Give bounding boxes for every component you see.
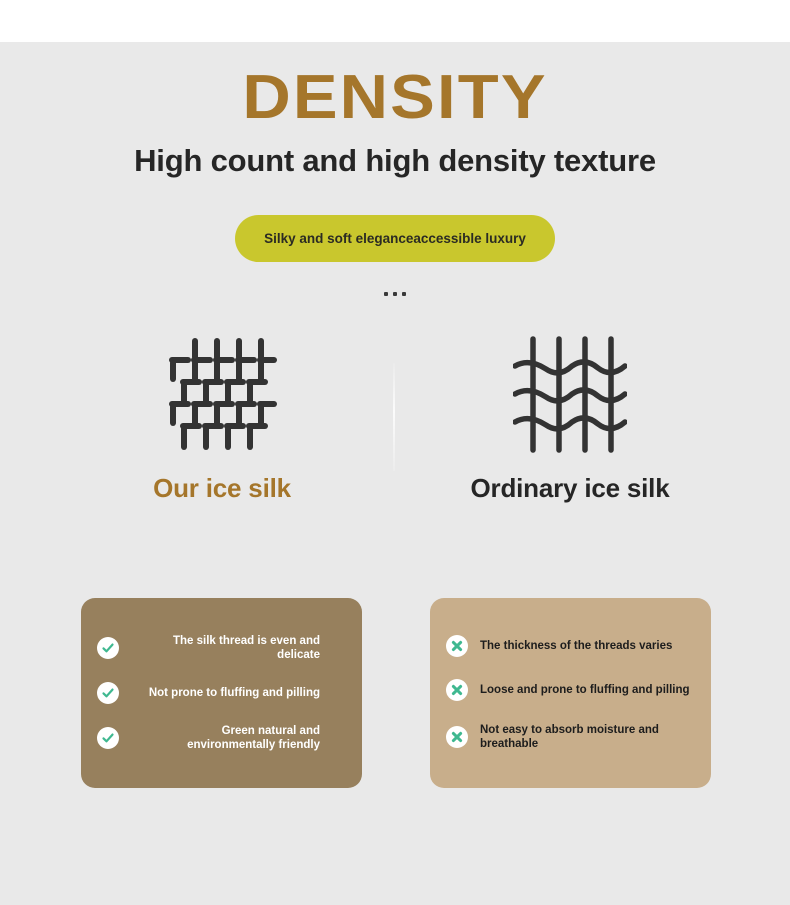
list-item-label: The thickness of the threads varies [480,639,695,653]
page-title: DENSITY [0,62,790,134]
cross-icon [446,679,468,701]
cross-icon [446,726,468,748]
tagline-badge-label: Silky and soft eleganceaccessible luxury [264,231,526,247]
check-icon [97,727,119,749]
list-item-label: Not easy to absorb moisture and breathab… [480,723,695,751]
list-item: Not prone to fluffing and pilling [97,682,346,704]
dot-icon [384,292,388,296]
feature-card-our-ice-silk: The silk thread is even and delicate Not… [81,598,362,788]
feature-card-ordinary-ice-silk: The thickness of the threads varies Loos… [430,598,711,788]
list-item-label: Green natural and environmentally friend… [131,724,346,752]
loose-weave-icon [405,330,735,460]
list-item: Green natural and environmentally friend… [97,724,346,752]
list-item: The thickness of the threads varies [446,635,695,657]
list-item: Not easy to absorb moisture and breathab… [446,723,695,751]
page-subtitle: High count and high density texture [0,141,790,181]
column-our-ice-silk: Our ice silk [57,330,387,504]
check-icon [97,682,119,704]
dot-icon [402,292,406,296]
list-item: Loose and prone to fluffing and pilling [446,679,695,701]
column-ordinary-ice-silk: Ordinary ice silk [405,330,735,504]
ellipsis-decoration [0,292,790,296]
column-divider [393,363,395,471]
cross-icon [446,635,468,657]
column-label-our-ice-silk: Our ice silk [57,472,387,504]
tight-weave-icon [57,330,387,460]
tagline-badge: Silky and soft eleganceaccessible luxury [235,215,555,262]
promo-page: DENSITY High count and high density text… [0,0,790,905]
list-item-label: Not prone to fluffing and pilling [131,686,346,700]
list-item-label: Loose and prone to fluffing and pilling [480,683,695,697]
dot-icon [393,292,397,296]
check-icon [97,637,119,659]
list-item-label: The silk thread is even and delicate [131,634,346,662]
list-item: The silk thread is even and delicate [97,634,346,662]
column-label-ordinary-ice-silk: Ordinary ice silk [405,472,735,504]
